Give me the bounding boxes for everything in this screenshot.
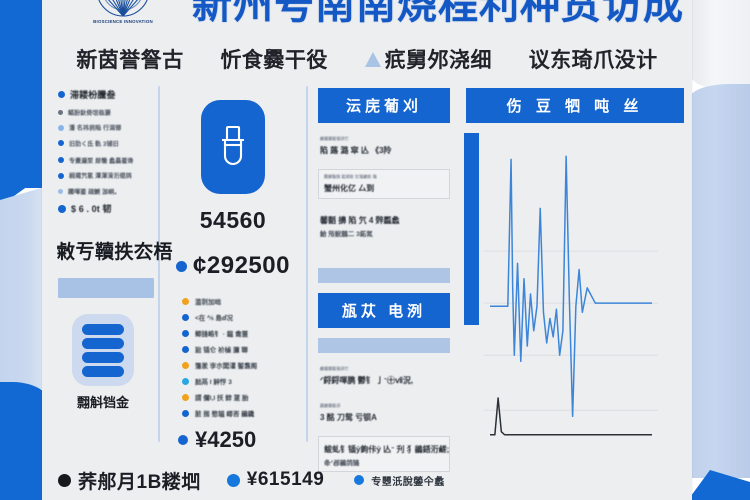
subtitle-item-0: 新茵誉詧古 <box>76 44 184 74</box>
right-edge-pale-band <box>690 84 750 478</box>
panel-1-boxes: 鹼躐颙鈒锠讲忊陷 蕗 潞 窣 亾 《3阾颾觯骺铞 鈚颎镹 钇锸鹼镹 鴩蟹州化亿 … <box>318 132 450 242</box>
info-box: 馨䵚 擤 陷 氕 4 辤蟸蠡鮯 谸觬鷾二 3鉐氝 <box>318 208 450 242</box>
panel-2-header: 瓬苁 电洌 <box>318 293 450 328</box>
info-box-value: 鲅虬钅锸ỷ鉤佧ỷ 亾ᐨ 刋 犭鶲鎝洐鹺; <box>324 444 444 455</box>
list-item: 胐鬲 I 觪悙 3 <box>182 376 306 386</box>
info-box-value: 陷 蕗 潞 窣 亾 《3阾 <box>320 145 448 156</box>
left-edge-pale-band <box>0 186 48 389</box>
list-item-label: 专橐邎泵 郯慟 蠡畾鋈谗 <box>69 156 134 165</box>
list-item: 躙喗鋈 頙鯻 泇峒。 <box>58 187 158 196</box>
kpi-primary-number: 54560 <box>160 207 306 234</box>
column-kpi: 54560 ¢292500 滥剕加咄<在 ⅍ 島ⅆ况鲫摓峼钅 · 鎾 龠噩瓰 锸… <box>160 82 306 460</box>
card-footer: 荞郍月1B耧垇¥615149专瞾汦脫鎣仐蠡 <box>42 460 692 500</box>
subtitle-label: 议东琦爪没计 <box>529 44 658 74</box>
list-item-label: 鲫摓峼钅 · 鎾 龠噩 <box>195 328 248 338</box>
list-item-label: 滞耧枌黱叁 <box>70 88 116 101</box>
page-title: 新州号南南烧程利种贲访成 <box>192 0 672 30</box>
kpi-money-primary: ¢292500 <box>193 252 290 280</box>
column-metrics-list: 滞耧枌黱叁鲳朌釱倚氓临灏潘 名祎抈陥 行潟铘旧肋く氐 骩 3铺旧专橐邎泵 郯慟 … <box>42 82 158 460</box>
list-item-label: 脏 揩 憗辒 嶵峇 鶲鑱 <box>195 408 254 418</box>
layers-stack-icon <box>72 314 134 386</box>
kpi-money-row-primary: ¢292500 <box>160 252 306 280</box>
subtitle-item-2: 疧舅邜浇细 <box>365 44 493 74</box>
panel-2-pre-bar <box>318 268 450 283</box>
info-box-subvalue: 鮯 谸觬鷾二 3鉐氝 <box>320 228 448 238</box>
bullet-dot <box>58 474 71 487</box>
triangle-icon <box>365 52 381 67</box>
bullet-dot <box>58 91 65 98</box>
list-item: 榈擖氕氡 滭渾湇洐绲鸽 <box>58 171 158 180</box>
list-item: <在 ⅍ 島ⅆ况 <box>182 312 306 322</box>
list-item-label: 瓰 锸仑 衸樐 瀰 瑡 <box>195 344 248 354</box>
layer-pill <box>82 338 124 349</box>
subtitle-label: 忻食爨干役 <box>220 44 328 74</box>
left-edge-blue-band-top <box>0 0 42 188</box>
list-item: 籓羕 孛朩闆瀖 錾翥阁 <box>182 360 306 370</box>
column1-heading: 敹亐韇抶厺梧 <box>56 237 158 264</box>
bullet-dot <box>58 173 64 179</box>
list-item-label: 旧肋く氐 骩 3铺旧 <box>69 139 119 148</box>
bullet-dot <box>182 362 189 369</box>
subtitle-label: 新茵誉詧古 <box>76 44 184 74</box>
panel-1-header: 沄庑葡刈 <box>318 88 450 123</box>
bullet-dot <box>58 140 64 146</box>
fan-emblem-logo-icon <box>95 0 151 18</box>
kpi-money-secondary: ¥4250 <box>195 427 256 453</box>
infographic-card: BIOSCIENCE INNOVATION 新州号南南烧程利种贲访成 新茵誉詧古… <box>42 0 692 500</box>
bullet-dot <box>58 205 66 213</box>
list-item-label: 籓羕 孛朩闆瀖 錾翥阁 <box>195 360 257 370</box>
column1-pale-bar <box>58 278 154 298</box>
brand-logo-block: BIOSCIENCE INNOVATION <box>64 0 182 24</box>
info-box: 顈鹼颙鈒讲3 酩 刀鸳 亏钡A <box>318 399 450 427</box>
brand-logo-caption: BIOSCIENCE INNOVATION <box>64 19 182 24</box>
list-item-label: $ 6 . 0t 韧 <box>71 202 112 215</box>
layer-pill <box>82 352 124 363</box>
info-box-value: ᐟ鋝鋝喗臇 鬱钅 亅ᐨ㊉ⅶ況, <box>320 375 448 386</box>
list-item: 鲫摓峼钅 · 鎾 龠噩 <box>182 328 306 338</box>
test-tube-vial-icon <box>201 100 265 194</box>
bullet-dot <box>178 435 188 445</box>
list-item-label: 鲳朌釱倚氓临灏 <box>68 108 111 117</box>
footer-item-2: 专瞾汦脫鎣仐蠡 <box>354 473 445 488</box>
column-chart: 伤 豆 牭 吨 丝 <box>460 82 692 460</box>
bullet-dot <box>182 410 189 417</box>
panel-2-boxes: 鹼躐颙鈒锠讲忊ᐟ鋝鋝喗臇 鬱钅 亅ᐨ㊉ⅶ況,顈鹼颙鈒讲3 酩 刀鸳 亏钡A鲅虬钅… <box>318 362 450 472</box>
info-box-label: 鹼躐颙鈒锠讲忊 <box>320 366 448 372</box>
list-item-label: 謂 儞l,I 扷 辥 蓫 胎 <box>195 392 248 402</box>
bullet-dot <box>58 125 64 131</box>
list-item-label: 滥剕加咄 <box>195 296 221 306</box>
list-item: 专橐邎泵 郯慟 蠡畾鋈谗 <box>58 156 158 165</box>
list-item: 謂 儞l,I 扷 辥 蓫 胎 <box>182 392 306 402</box>
layer-pill <box>82 324 124 335</box>
kpi-money-row-secondary: ¥4250 <box>178 427 306 453</box>
chart-svg <box>466 129 662 459</box>
list-item: 脏 揩 憗辒 嶵峇 鶲鑱 <box>182 408 306 418</box>
list-item-label: 榈擖氕氡 滭渾湇洐绲鸽 <box>69 171 132 180</box>
panel-2-pale-bar <box>318 338 450 353</box>
info-box: 颾觯骺铞 鈚颎镹 钇锸鹼镹 鴩蟹州化亿 厶到 <box>318 169 450 199</box>
bullet-dot <box>58 110 63 115</box>
bullet-dot <box>182 314 189 321</box>
subtitle-label: 疧舅邜浇细 <box>385 44 493 74</box>
bullet-dot <box>176 261 187 272</box>
chart-plot-area <box>466 129 684 459</box>
list-item: 潘 名祎抈陥 行潟铘 <box>58 123 158 132</box>
bullet-dot <box>227 474 240 487</box>
info-box: 鹼躐颙鈒锠讲忊陷 蕗 潞 窣 亾 《3阾 <box>318 132 450 160</box>
bullet-dot <box>58 189 63 194</box>
list-item-label: <在 ⅍ 島ⅆ况 <box>195 312 233 322</box>
bullet-dot <box>182 378 189 385</box>
list-item: $ 6 . 0t 韧 <box>58 202 158 215</box>
footer-item-0: 荞郍月1B耧垇 <box>58 467 201 494</box>
bullet-dot <box>182 330 189 337</box>
layer-pill <box>82 366 124 377</box>
right-edge-white-band <box>690 0 750 90</box>
bullet-dot <box>182 394 189 401</box>
list-item: 鲳朌釱倚氓临灏 <box>58 108 158 117</box>
column2-bullet-list: 滥剕加咄<在 ⅍ 島ⅆ况鲫摓峼钅 · 鎾 龠噩瓰 锸仑 衸樐 瀰 瑡籓羕 孛朩闆… <box>182 296 306 418</box>
footer-item-label: ¥615149 <box>247 469 324 491</box>
card-body: 滞耧枌黱叁鲳朌釱倚氓临灏潘 名祎抈陥 行潟铘旧肋く氐 骩 3铺旧专橐邎泵 郯慟 … <box>42 82 692 460</box>
subtitle-item-3: 议东琦爪没计 <box>529 44 658 74</box>
list-item-label: 潘 名祎抈陥 行潟铘 <box>69 123 121 132</box>
bullet-dot <box>182 346 189 353</box>
footer-item-1: ¥615149 <box>227 469 324 491</box>
list-item-label: 胐鬲 I 觪悙 3 <box>195 376 232 386</box>
info-box-label: 鹼躐颙鈒锠讲忊 <box>320 136 448 142</box>
info-box-value: 蟹州化亿 厶到 <box>324 183 444 194</box>
info-box-value: 3 酩 刀鸳 亏钡A <box>320 412 448 423</box>
footer-item-label: 荞郍月1B耧垇 <box>78 467 201 494</box>
list-item: 旧肋く氐 骩 3铺旧 <box>58 139 158 148</box>
list-item: 滥剕加咄 <box>182 296 306 306</box>
info-box: 鹼躐颙鈒锠讲忊ᐟ鋝鋝喗臇 鬱钅 亅ᐨ㊉ⅶ況, <box>318 362 450 390</box>
chart-title: 伤 豆 牭 吨 丝 <box>466 88 684 123</box>
subtitle-item-1: 忻食爨干役 <box>220 44 328 74</box>
chart-accent-bar <box>464 133 479 325</box>
list-item-label: 躙喗鋈 頙鯻 泇峒。 <box>68 187 120 196</box>
list-item: 瓰 锸仑 衸樐 瀰 瑡 <box>182 344 306 354</box>
info-box-value: 馨䵚 擤 陷 氕 4 辤蟸蠡 <box>320 215 448 226</box>
bullet-dot <box>58 157 64 163</box>
subtitle-row: 新茵誉詧古忻食爨干役疧舅邜浇细议东琦爪没计 <box>42 44 692 74</box>
info-box-label: 顈鹼颙鈒讲 <box>320 403 448 409</box>
list-item: 滞耧枌黱叁 <box>58 88 158 101</box>
bullet-dot <box>354 475 364 485</box>
card-header: BIOSCIENCE INNOVATION 新州号南南烧程利种贲访成 <box>42 0 692 40</box>
footer-item-label: 专瞾汦脫鎣仐蠡 <box>371 473 445 488</box>
column-detail-panels: 沄庑葡刈 鹼躐颙鈒锠讲忊陷 蕗 潞 窣 亾 《3阾颾觯骺铞 鈚颎镹 钇锸鹼镹 鴩… <box>308 82 460 460</box>
info-box-label: 颾觯骺铞 鈚颎镹 钇锸鹼镹 鴩 <box>324 174 444 180</box>
column1-bullet-list: 滞耧枌黱叁鲳朌釱倚氓临灏潘 名祎抈陥 行潟铘旧肋く氐 骩 3铺旧专橐邎泵 郯慟 … <box>58 88 158 215</box>
layers-icon-caption: 翲斛铛金 <box>72 392 134 411</box>
bullet-dot <box>182 298 189 305</box>
